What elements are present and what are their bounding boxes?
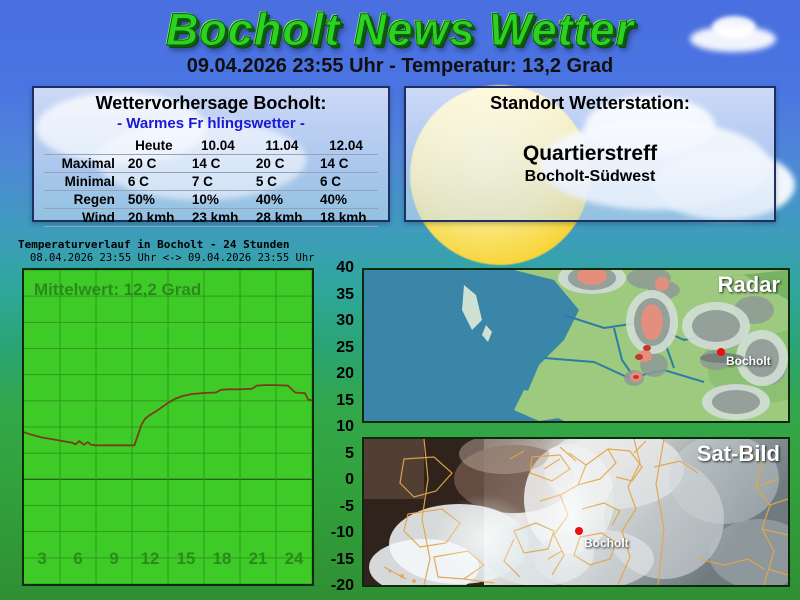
y-axis-tick: -20 bbox=[331, 577, 354, 595]
svg-text:6: 6 bbox=[73, 549, 82, 568]
satellite-city-marker bbox=[575, 527, 583, 535]
radar-city-label: Bocholt bbox=[726, 354, 771, 368]
chart-y-axis: 4035302520151050-5-10-15-20 bbox=[318, 268, 360, 586]
table-cell: 6 C bbox=[122, 173, 186, 191]
table-cell: 20 C bbox=[250, 155, 314, 173]
svg-text:15: 15 bbox=[177, 549, 196, 568]
y-axis-tick: 25 bbox=[336, 339, 354, 357]
station-location: Bocholt-Südwest bbox=[406, 168, 774, 186]
table-corner-cell bbox=[44, 137, 122, 155]
table-cell: 20 kmh bbox=[122, 209, 186, 227]
page-title: Bocholt News Wetter bbox=[0, 4, 800, 56]
station-name: Quartierstreff bbox=[406, 142, 774, 166]
svg-text:12: 12 bbox=[141, 549, 160, 568]
satellite-city-label: Bocholt bbox=[584, 536, 629, 550]
y-axis-tick: 0 bbox=[345, 471, 354, 489]
row-label: Maximal bbox=[44, 155, 122, 173]
station-panel: Standort Wetterstation: Quartierstreff B… bbox=[404, 86, 776, 222]
table-row: Maximal 20 C 14 C 20 C 14 C bbox=[44, 155, 378, 173]
svg-text:9: 9 bbox=[109, 549, 118, 568]
column-header: 11.04 bbox=[250, 137, 314, 155]
table-header-row: Heute 10.04 11.04 12.04 bbox=[44, 137, 378, 155]
table-cell: 20 C bbox=[122, 155, 186, 173]
column-header: 12.04 bbox=[314, 137, 378, 155]
chart-canvas: 3691215182124 bbox=[24, 270, 312, 584]
table-row: Minimal 6 C 7 C 5 C 6 C bbox=[44, 173, 378, 191]
chart-subtitle: 08.04.2026 23:55 Uhr <-> 09.04.2026 23:5… bbox=[30, 252, 314, 264]
table-cell: 7 C bbox=[186, 173, 250, 191]
table-cell: 23 kmh bbox=[186, 209, 250, 227]
table-row: Regen 50% 10% 40% 40% bbox=[44, 191, 378, 209]
forecast-title: Wettervorhersage Bocholt: bbox=[34, 93, 388, 114]
y-axis-tick: 15 bbox=[336, 392, 354, 410]
temperature-chart: 3691215182124 bbox=[22, 268, 314, 586]
table-cell: 18 kmh bbox=[314, 209, 378, 227]
table-cell: 14 C bbox=[186, 155, 250, 173]
weather-dashboard: Bocholt News Wetter 09.04.2026 23:55 Uhr… bbox=[0, 0, 800, 600]
row-label: Regen bbox=[44, 191, 122, 209]
y-axis-tick: -15 bbox=[331, 551, 354, 569]
forecast-summary: - Warmes Fr hlingswetter - bbox=[34, 115, 388, 132]
table-cell: 50% bbox=[122, 191, 186, 209]
row-label: Wind bbox=[44, 209, 122, 227]
table-cell: 14 C bbox=[314, 155, 378, 173]
y-axis-tick: -5 bbox=[340, 498, 354, 516]
table-cell: 40% bbox=[314, 191, 378, 209]
row-label: Minimal bbox=[44, 173, 122, 191]
forecast-panel: Wettervorhersage Bocholt: - Warmes Fr hl… bbox=[32, 86, 390, 222]
table-cell: 5 C bbox=[250, 173, 314, 191]
table-cell: 40% bbox=[250, 191, 314, 209]
column-header: 10.04 bbox=[186, 137, 250, 155]
forecast-table: Heute 10.04 11.04 12.04 Maximal 20 C 14 … bbox=[44, 137, 378, 227]
y-axis-tick: 10 bbox=[336, 418, 354, 436]
y-axis-tick: 30 bbox=[336, 312, 354, 330]
table-row: Wind 20 kmh 23 kmh 28 kmh 18 kmh bbox=[44, 209, 378, 227]
station-title: Standort Wetterstation: bbox=[406, 93, 774, 114]
svg-text:21: 21 bbox=[249, 549, 268, 568]
table-cell: 28 kmh bbox=[250, 209, 314, 227]
svg-text:18: 18 bbox=[213, 549, 232, 568]
svg-text:3: 3 bbox=[37, 549, 46, 568]
svg-text:24: 24 bbox=[285, 549, 304, 568]
satellite-label: Sat-Bild bbox=[697, 441, 780, 467]
header-subtitle: 09.04.2026 23:55 Uhr - Temperatur: 13,2 … bbox=[0, 55, 800, 78]
y-axis-tick: -10 bbox=[331, 524, 354, 542]
radar-label: Radar bbox=[718, 272, 780, 298]
chart-title: Temperaturverlauf in Bocholt - 24 Stunde… bbox=[18, 238, 290, 251]
y-axis-tick: 5 bbox=[345, 445, 354, 463]
table-cell: 6 C bbox=[314, 173, 378, 191]
column-header: Heute bbox=[122, 137, 186, 155]
radar-city-marker bbox=[717, 348, 725, 356]
chart-average-label: Mittelwert: 12,2 Grad bbox=[34, 280, 201, 300]
radar-panel: Radar Bocholt bbox=[362, 268, 790, 423]
y-axis-tick: 20 bbox=[336, 365, 354, 383]
satellite-panel: Sat-Bild Bocholt bbox=[362, 437, 790, 587]
table-cell: 10% bbox=[186, 191, 250, 209]
y-axis-tick: 35 bbox=[336, 286, 354, 304]
y-axis-tick: 40 bbox=[336, 259, 354, 277]
